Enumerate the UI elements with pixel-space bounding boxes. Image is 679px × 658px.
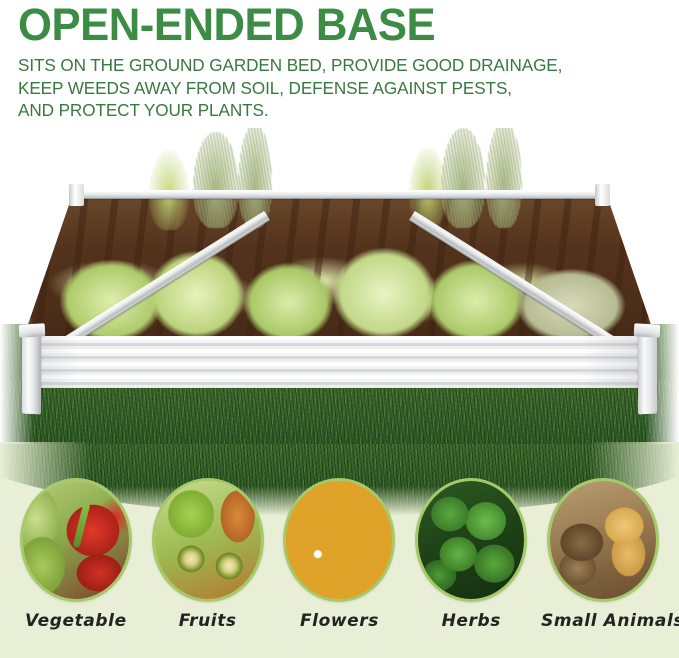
plant-leaf-cluster	[333, 248, 435, 339]
category-label-vegetable: Vegetable	[14, 611, 138, 631]
subtitle-line-3: AND PROTECT YOUR PLANTS.	[18, 99, 666, 122]
page-title: OPEN-ENDED BASE	[18, 2, 659, 48]
daisy-flowers-icon	[286, 481, 392, 599]
flowers-thumbnail[interactable]	[283, 478, 395, 602]
bed-back-left-post	[69, 184, 84, 206]
soil-and-plants-surface	[22, 190, 657, 342]
corrugated-metal-panel	[22, 336, 657, 408]
tall-herb-plant	[238, 128, 272, 228]
category-item-flowers[interactable]: Flowers	[277, 478, 401, 631]
tall-herb-plant	[486, 128, 522, 228]
baby-chicks-icon	[550, 481, 656, 599]
category-item-small-animals[interactable]: Small Animals	[541, 478, 665, 631]
bed-front-left-post	[22, 330, 41, 415]
bed-back-rail	[74, 190, 605, 199]
bed-back-right-post	[595, 184, 610, 206]
category-label-flowers: Flowers	[277, 611, 401, 631]
raised-garden-bed	[22, 190, 657, 470]
mint-leaves-icon	[418, 481, 524, 599]
subtitle-line-1: SITS ON THE GROUND GARDEN BED, PROVIDE G…	[18, 54, 666, 77]
category-list: Vegetable Fruits Flowers Herbs	[0, 478, 679, 631]
category-label-herbs: Herbs	[409, 611, 533, 631]
header-text-block: OPEN-ENDED BASE SITS ON THE GROUND GARDE…	[0, 0, 679, 122]
category-item-herbs[interactable]: Herbs	[409, 478, 533, 631]
fruits-thumbnail[interactable]	[152, 478, 264, 602]
peppers-lettuce-tomatoes-icon	[23, 481, 129, 599]
hero-product-photo	[0, 128, 679, 480]
category-item-vegetable[interactable]: Vegetable	[14, 478, 138, 631]
bed-left-post-cap	[19, 323, 46, 337]
herbs-thumbnail[interactable]	[415, 478, 527, 602]
category-item-fruits[interactable]: Fruits	[146, 478, 270, 631]
plant-leaf-cluster	[517, 269, 625, 342]
small-animals-thumbnail[interactable]	[547, 478, 659, 602]
category-band: Vegetable Fruits Flowers Herbs	[0, 462, 679, 658]
subtitle-line-2: KEEP WEEDS AWAY FROM SOIL, DEFENSE AGAIN…	[18, 77, 666, 100]
subtitle-block: SITS ON THE GROUND GARDEN BED, PROVIDE G…	[18, 54, 666, 122]
category-label-small-animals: Small Animals	[541, 611, 665, 631]
tall-herb-plant	[441, 128, 485, 228]
bed-right-post-cap	[634, 323, 661, 337]
vegetable-thumbnail[interactable]	[20, 478, 132, 602]
product-infographic: OPEN-ENDED BASE SITS ON THE GROUND GARDE…	[0, 0, 679, 658]
apple-kiwi-icon	[155, 481, 261, 599]
bed-front-right-post	[638, 330, 657, 415]
tall-herb-plant	[193, 132, 239, 228]
category-label-fruits: Fruits	[146, 611, 270, 631]
plant-leaf-cluster	[244, 263, 333, 342]
plant-cluster-group	[22, 190, 657, 342]
